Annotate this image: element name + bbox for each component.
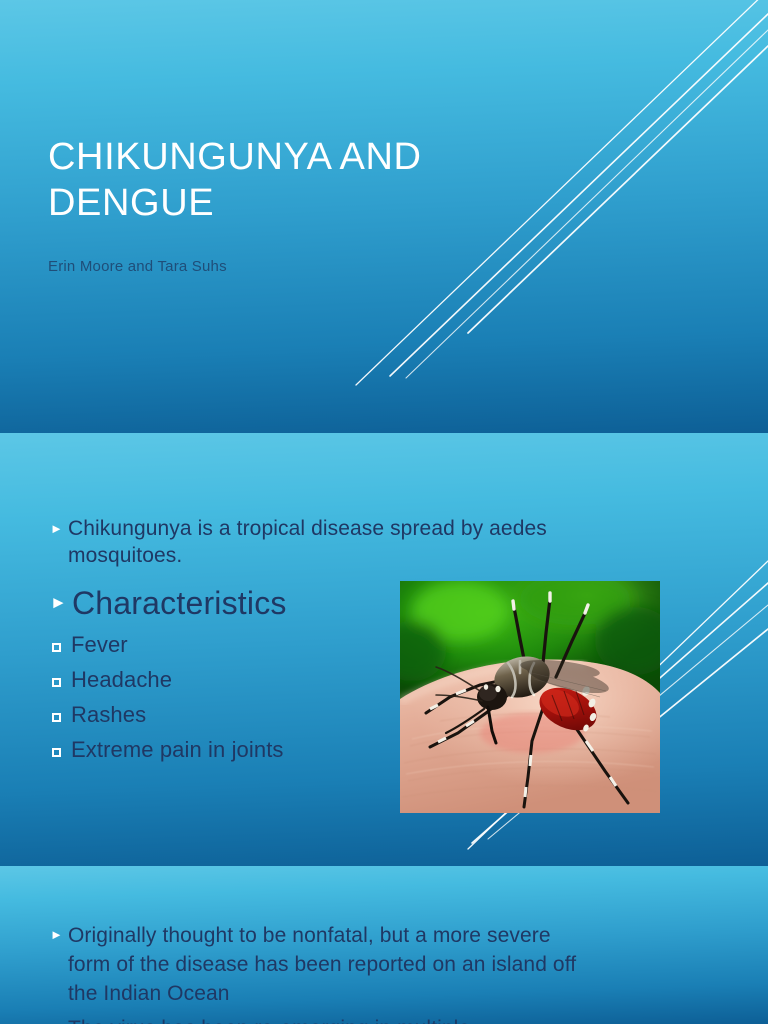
title-block: Chikungunya and Dengue Erin Moore and Ta…: [48, 134, 478, 277]
bullet-item: ► Chikungunya is a tropical disease spre…: [50, 515, 570, 569]
slide-body-bullets: ► Originally thought to be nonfatal, but…: [50, 921, 590, 1024]
triangle-bullet-icon: ►: [50, 583, 72, 611]
hollow-square-bullet-icon: [52, 666, 71, 691]
bullet-item-clipped: ► The virus has been re-emerging in mult…: [50, 1014, 590, 1024]
aedes-mosquito-photo: [400, 581, 660, 813]
triangle-bullet-icon: ►: [50, 1014, 68, 1024]
hollow-square-bullet-icon: [52, 736, 71, 761]
slide-deck[interactable]: Chikungunya and Dengue Erin Moore and Ta…: [0, 0, 768, 1024]
page-title: Chikungunya and Dengue: [48, 134, 478, 226]
triangle-bullet-icon: ►: [50, 515, 68, 535]
triangle-bullet-icon: ►: [50, 921, 68, 941]
bullet-text: Chikungunya is a tropical disease spread…: [68, 515, 570, 569]
slide-chikungunya-characteristics[interactable]: ► Chikungunya is a tropical disease spre…: [0, 433, 768, 866]
slide-severity[interactable]: ► Originally thought to be nonfatal, but…: [0, 866, 768, 1024]
slide-title[interactable]: Chikungunya and Dengue Erin Moore and Ta…: [0, 0, 768, 433]
bullet-text: Originally thought to be nonfatal, but a…: [68, 921, 590, 1008]
bullet-text: The virus has been re-emerging in multip…: [68, 1014, 590, 1024]
page-subtitle: Erin Moore and Tara Suhs: [48, 257, 478, 277]
hollow-square-bullet-icon: [52, 701, 71, 726]
hollow-square-bullet-icon: [52, 631, 71, 656]
bullet-item: ► Originally thought to be nonfatal, but…: [50, 921, 590, 1008]
